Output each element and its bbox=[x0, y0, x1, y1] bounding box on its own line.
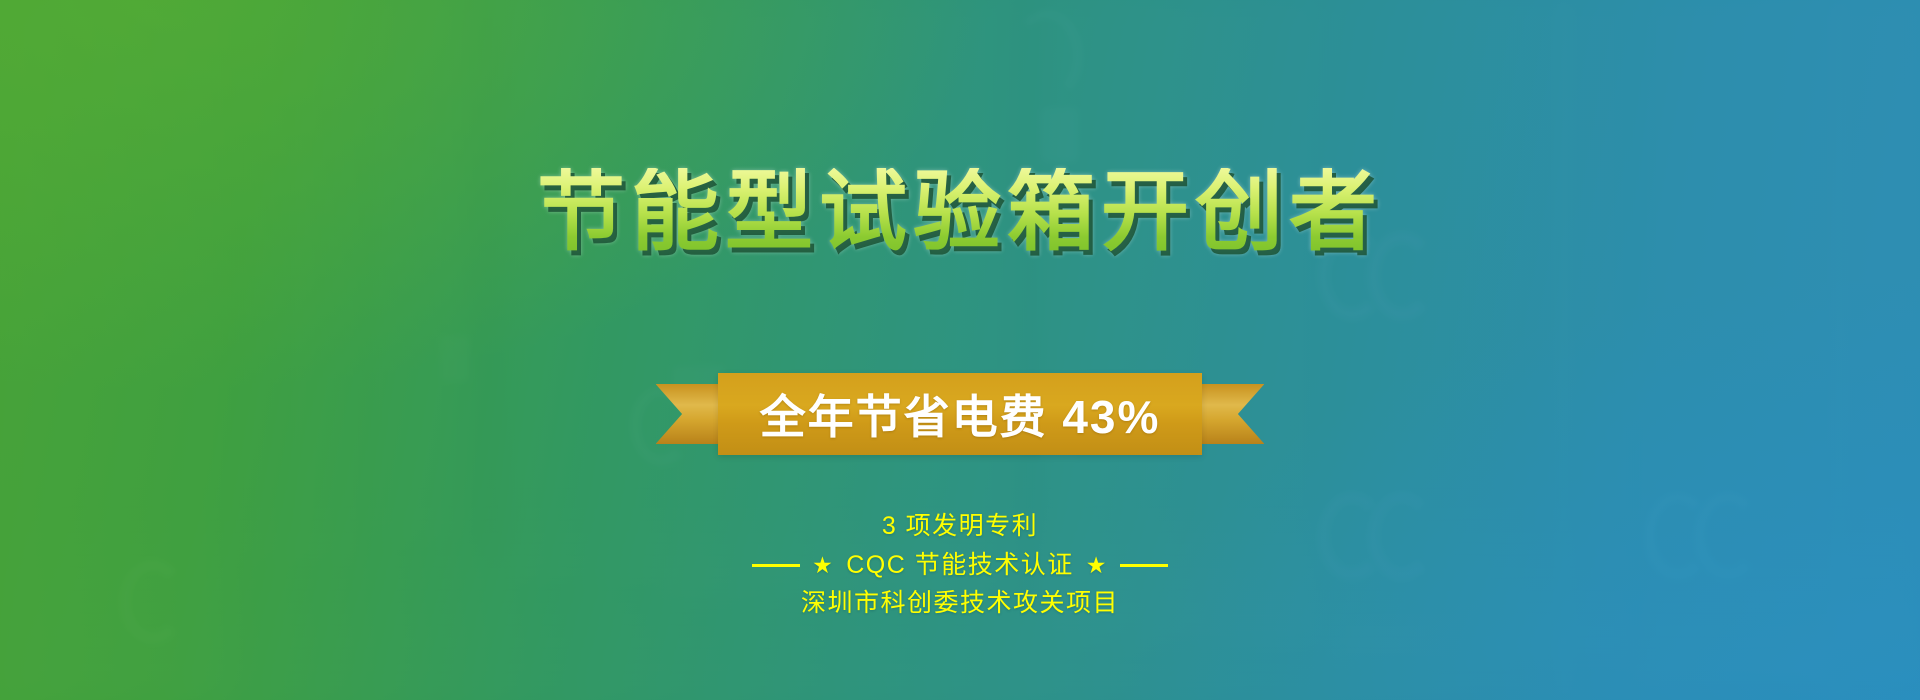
banner-content: 节能型试验箱开创者 全年节省电费 43% 3 项发明专利 ★ CQC 节能技术认… bbox=[0, 0, 1920, 700]
ribbon-label: 全年节省电费 43% bbox=[760, 381, 1161, 447]
hero-banner: 节能型试验箱开创者 全年节省电费 43% 3 项发明专利 ★ CQC 节能技术认… bbox=[0, 0, 1920, 700]
savings-ribbon: 全年节省电费 43% bbox=[718, 373, 1203, 455]
rule-left-icon bbox=[752, 564, 800, 567]
star-left-icon: ★ bbox=[812, 554, 834, 577]
credential-cqc: ★ CQC 节能技术认证 ★ bbox=[752, 546, 1168, 585]
rule-right-icon bbox=[1120, 564, 1168, 567]
star-right-icon: ★ bbox=[1086, 554, 1108, 577]
credential-patents: 3 项发明专利 bbox=[882, 507, 1038, 546]
credentials-block: 3 项发明专利 ★ CQC 节能技术认证 ★ 深圳市科创委技术攻关项目 bbox=[752, 507, 1168, 623]
ribbon-body: 全年节省电费 43% bbox=[718, 373, 1203, 455]
credential-project: 深圳市科创委技术攻关项目 bbox=[801, 584, 1119, 623]
banner-headline: 节能型试验箱开创者 bbox=[537, 168, 1383, 256]
credential-cqc-label: CQC 节能技术认证 bbox=[846, 546, 1074, 585]
